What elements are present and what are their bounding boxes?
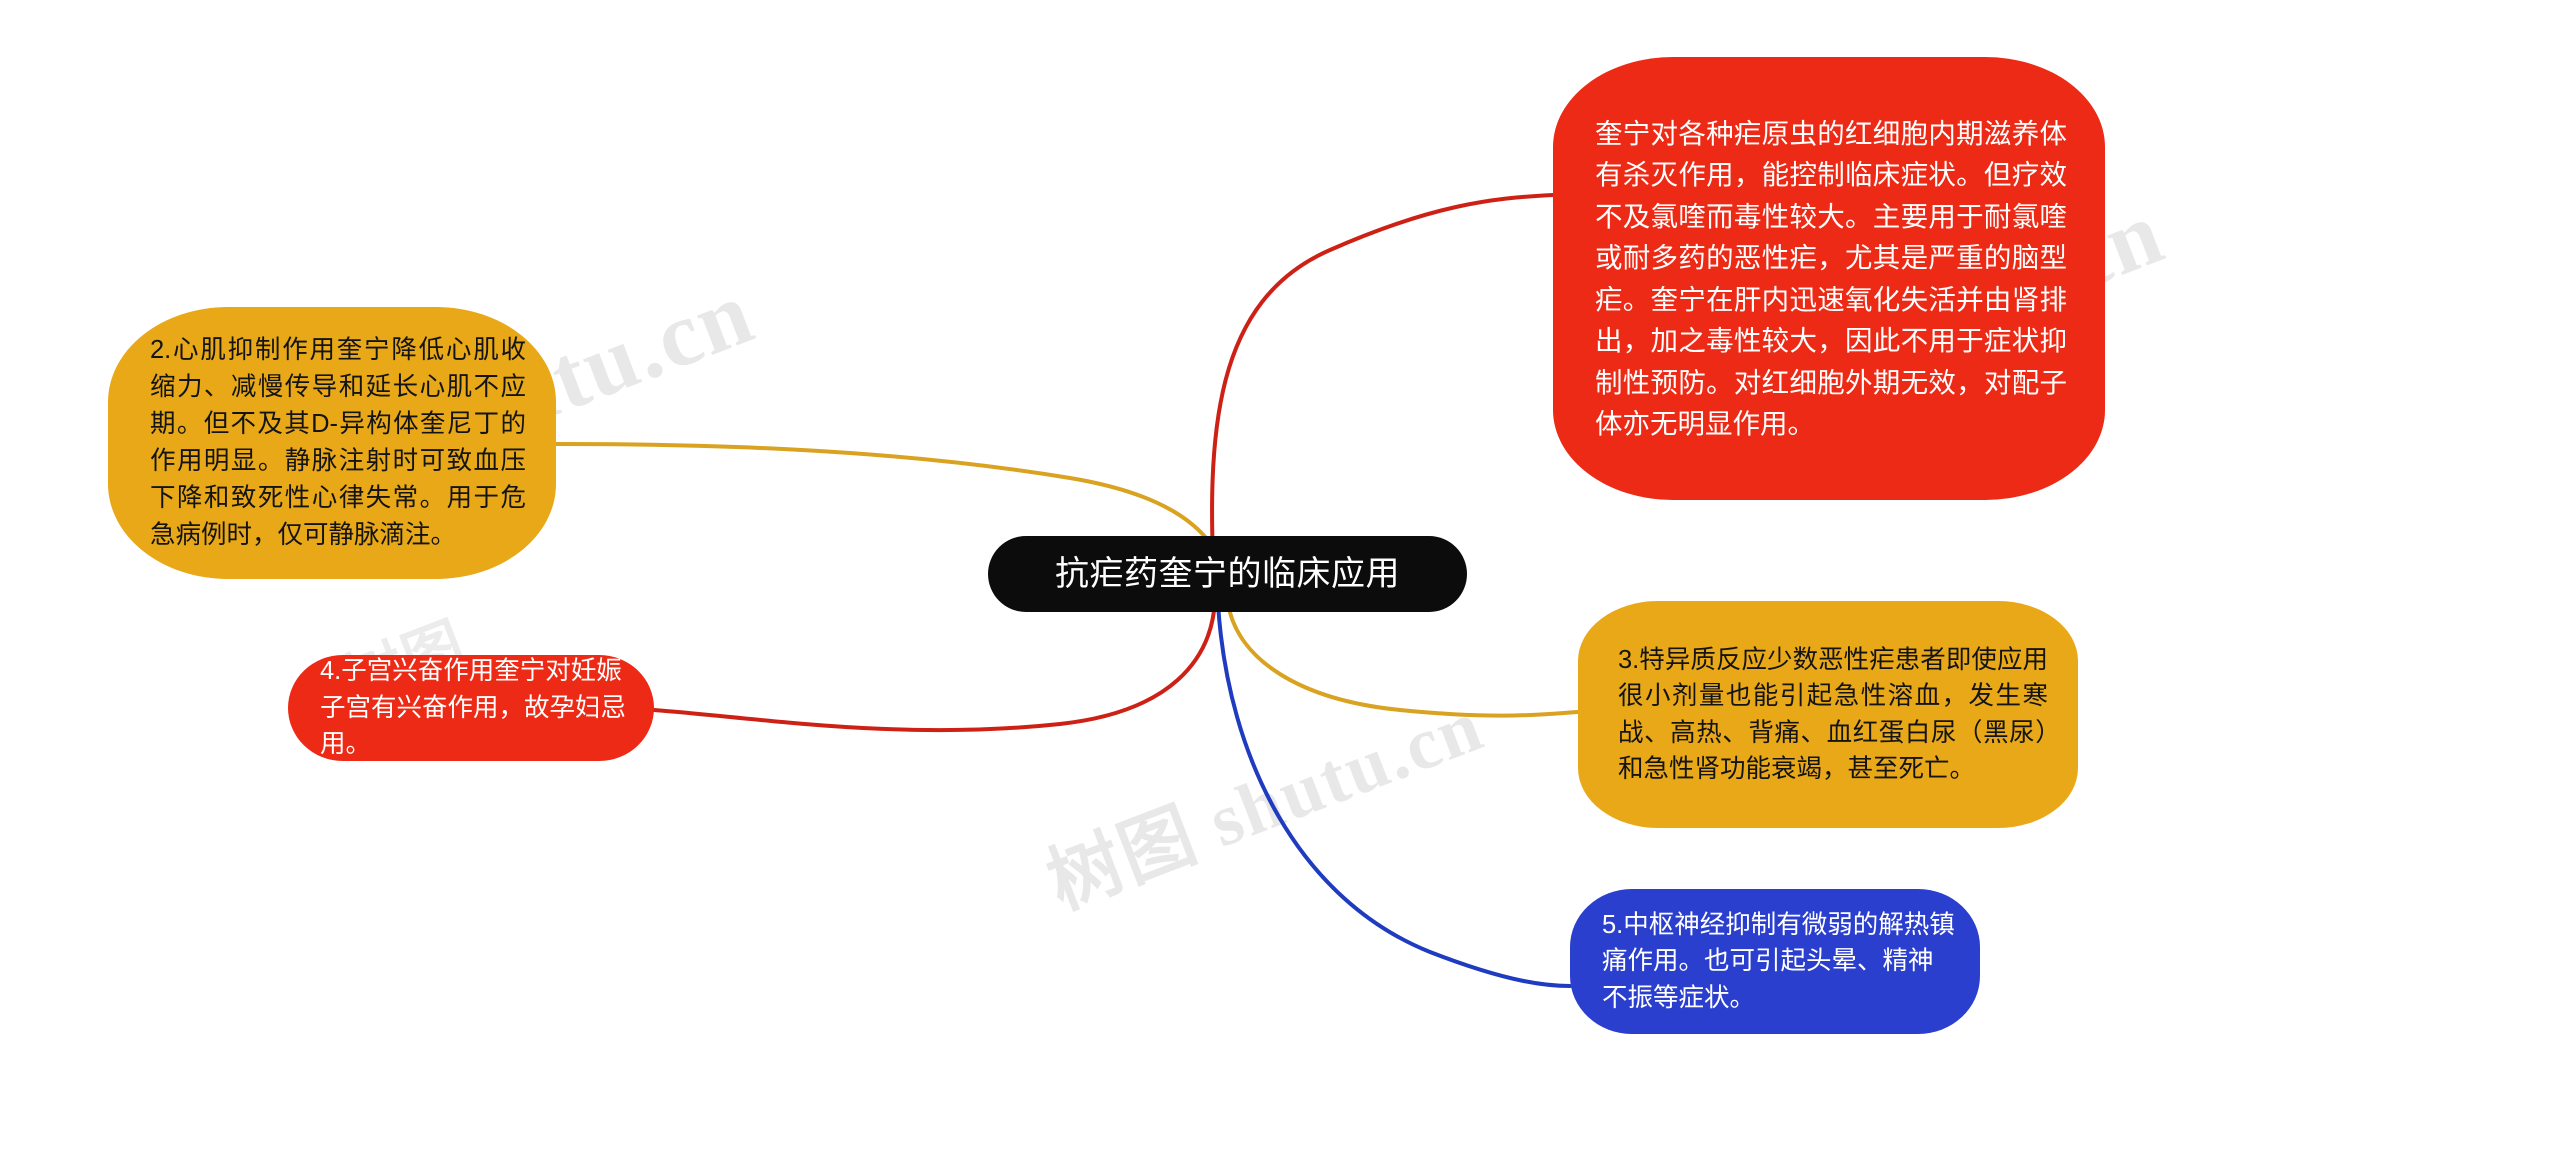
mindmap-node-branch-2[interactable]: 2.心肌抑制作用奎宁降低心肌收缩力、减慢传导和延长心肌不应期。但不及其D-异构体… xyxy=(108,307,556,579)
connector-branch-3 xyxy=(1228,604,1578,716)
branch-2-label: 2.心肌抑制作用奎宁降低心肌收缩力、减慢传导和延长心肌不应期。但不及其D-异构体… xyxy=(150,332,526,554)
root-node-label: 抗疟药奎宁的临床应用 xyxy=(988,555,1467,593)
branch-1-label: 奎宁对各种疟原虫的红细胞内期滋养体有杀灭作用，能控制临床症状。但疗效不及氯喹而毒… xyxy=(1595,113,2067,445)
branch-5-label: 5.中枢神经抑制有微弱的解热镇痛作用。也可引起头晕、精神不振等症状。 xyxy=(1602,907,1958,1017)
watermark-text: 树图 shutu.cn xyxy=(1030,666,1496,930)
mindmap-root-node[interactable]: 抗疟药奎宁的临床应用 xyxy=(988,536,1467,612)
branch-4-label: 4.子宫兴奋作用奎宁对妊娠子宫有兴奋作用，故孕妇忌用。 xyxy=(320,653,630,763)
mindmap-node-branch-5[interactable]: 5.中枢神经抑制有微弱的解热镇痛作用。也可引起头晕、精神不振等症状。 xyxy=(1570,889,1980,1034)
mindmap-node-branch-3[interactable]: 3.特异质反应少数恶性疟患者即使应用很小剂量也能引起急性溶血，发生寒战、高热、背… xyxy=(1578,601,2078,828)
mindmap-node-branch-4[interactable]: 4.子宫兴奋作用奎宁对妊娠子宫有兴奋作用，故孕妇忌用。 xyxy=(288,655,654,761)
connector-branch-4 xyxy=(654,600,1215,730)
mindmap-node-branch-1[interactable]: 奎宁对各种疟原虫的红细胞内期滋养体有杀灭作用，能控制临床症状。但疗效不及氯喹而毒… xyxy=(1553,57,2105,500)
mindmap-canvas: 树图 shutu.cn 树图 shutu.cn 树图 shutu.cn 树图 奎… xyxy=(0,0,2560,1154)
branch-3-label: 3.特异质反应少数恶性疟患者即使应用很小剂量也能引起急性溶血，发生寒战、高热、背… xyxy=(1618,642,2048,788)
connector-branch-5 xyxy=(1218,604,1570,986)
